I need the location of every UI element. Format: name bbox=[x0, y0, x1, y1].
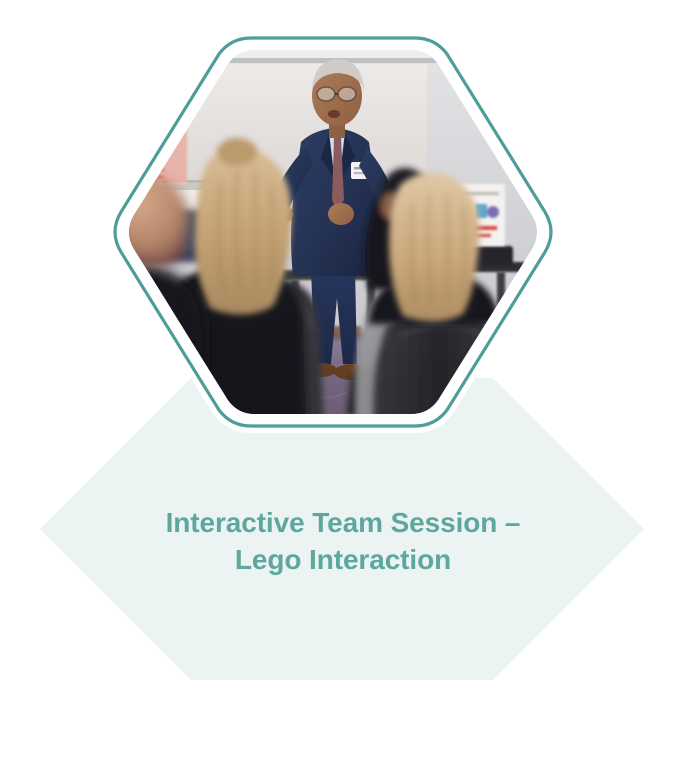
foreground-vignette bbox=[105, 364, 561, 446]
audience-front-left-hair bbox=[195, 147, 292, 314]
card-stage: F. bbox=[0, 0, 686, 776]
presenter-hand-right bbox=[328, 203, 354, 225]
caption-line-2: Lego Interaction bbox=[0, 542, 686, 579]
presenter-mouth bbox=[328, 110, 340, 118]
hexagon-photo-card-svg: F. bbox=[105, 34, 561, 446]
photo-scene: F. bbox=[105, 34, 561, 446]
hexagon-photo-card[interactable]: F. bbox=[105, 34, 561, 446]
caption-line-1: Interactive Team Session – bbox=[0, 505, 686, 542]
audience-front-left-bun bbox=[217, 138, 257, 166]
card-caption: Interactive Team Session – Lego Interact… bbox=[0, 505, 686, 579]
